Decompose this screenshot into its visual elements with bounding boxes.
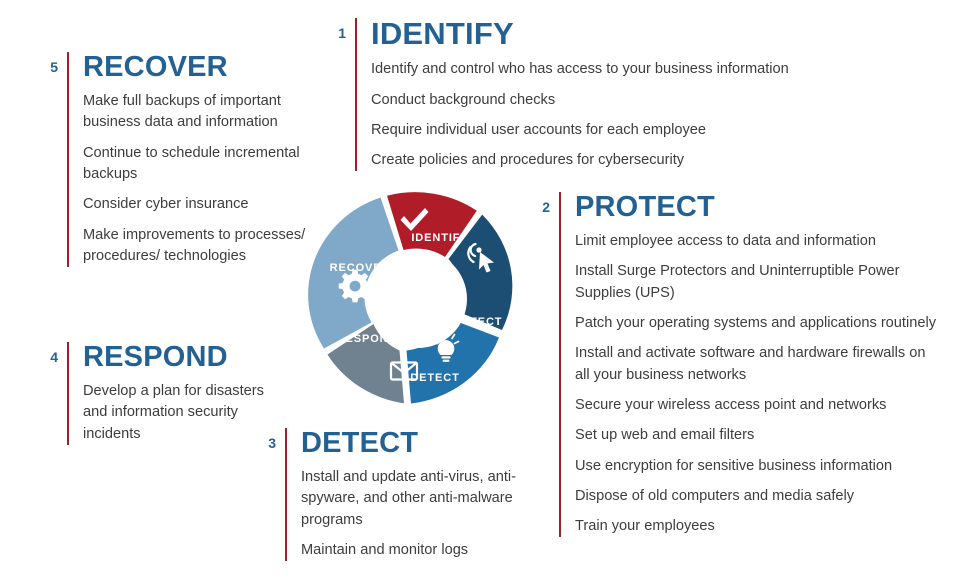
list-item: Make full backups of important business …: [83, 91, 324, 134]
cybersecurity-cycle-diagram: IDENTIFY PROTECT: [300, 189, 536, 409]
list-item: Consider cyber insurance: [83, 194, 324, 215]
list-item: Dispose of old computers and media safel…: [575, 486, 938, 507]
list-item: Patch your operating systems and applica…: [575, 313, 938, 334]
bullet-list-recover: Make full backups of important business …: [83, 91, 324, 267]
section-title-respond: RESPOND: [83, 342, 284, 372]
section-body-recover: RECOVER Make full backups of important b…: [69, 52, 324, 267]
list-item: Continue to schedule incremental backups: [83, 143, 324, 186]
list-item: Use encryption for sensitive business in…: [575, 456, 938, 477]
section-title-detect: DETECT: [301, 428, 532, 458]
bullet-list-protect: Limit employee access to data and inform…: [575, 231, 938, 537]
section-title-identify: IDENTIFY: [371, 18, 852, 50]
section-protect: 2 PROTECT Limit employee access to data …: [536, 192, 938, 537]
list-item: Install Surge Protectors and Uninterrupt…: [575, 261, 938, 304]
list-item: Develop a plan for disasters and informa…: [83, 381, 284, 445]
section-identify: 1 IDENTIFY Identify and control who has …: [332, 18, 852, 171]
section-body-respond: RESPOND Develop a plan for disasters and…: [69, 342, 284, 445]
list-item: Identify and control who has access to y…: [371, 59, 852, 80]
section-number-protect: 2: [536, 192, 550, 214]
section-number-recover: 5: [44, 52, 58, 74]
section-number-detect: 3: [262, 428, 276, 450]
section-number-identify: 1: [332, 18, 346, 40]
section-detect: 3 DETECT Install and update anti-virus, …: [262, 428, 532, 561]
list-item: Maintain and monitor logs: [301, 540, 532, 561]
wheel-center-hole: [369, 250, 467, 348]
section-body-identify: IDENTIFY Identify and control who has ac…: [357, 18, 852, 171]
list-item: Create policies and procedures for cyber…: [371, 150, 852, 171]
bullet-list-respond: Develop a plan for disasters and informa…: [83, 381, 284, 445]
list-item: Conduct background checks: [371, 90, 852, 111]
wheel-label-identify: IDENTIFY: [411, 232, 468, 244]
bullet-list-identify: Identify and control who has access to y…: [371, 59, 852, 171]
section-respond: 4 RESPOND Develop a plan for disasters a…: [44, 342, 284, 445]
section-recover: 5 RECOVER Make full backups of important…: [44, 52, 324, 267]
list-item: Install and activate software and hardwa…: [575, 343, 938, 386]
section-title-protect: PROTECT: [575, 192, 938, 222]
section-number-respond: 4: [44, 342, 58, 364]
bullet-list-detect: Install and update anti-virus, anti-spyw…: [301, 467, 532, 561]
list-item: Make improvements to processes/ procedur…: [83, 225, 324, 268]
list-item: Train your employees: [575, 516, 938, 537]
section-body-protect: PROTECT Limit employee access to data an…: [561, 192, 938, 537]
list-item: Limit employee access to data and inform…: [575, 231, 938, 252]
list-item: Set up web and email filters: [575, 425, 938, 446]
list-item: Install and update anti-virus, anti-spyw…: [301, 467, 532, 531]
gear-icon: [339, 270, 372, 303]
list-item: Secure your wireless access point and ne…: [575, 395, 938, 416]
section-title-recover: RECOVER: [83, 52, 324, 82]
section-body-detect: DETECT Install and update anti-virus, an…: [287, 428, 532, 561]
list-item: Require individual user accounts for eac…: [371, 120, 852, 141]
